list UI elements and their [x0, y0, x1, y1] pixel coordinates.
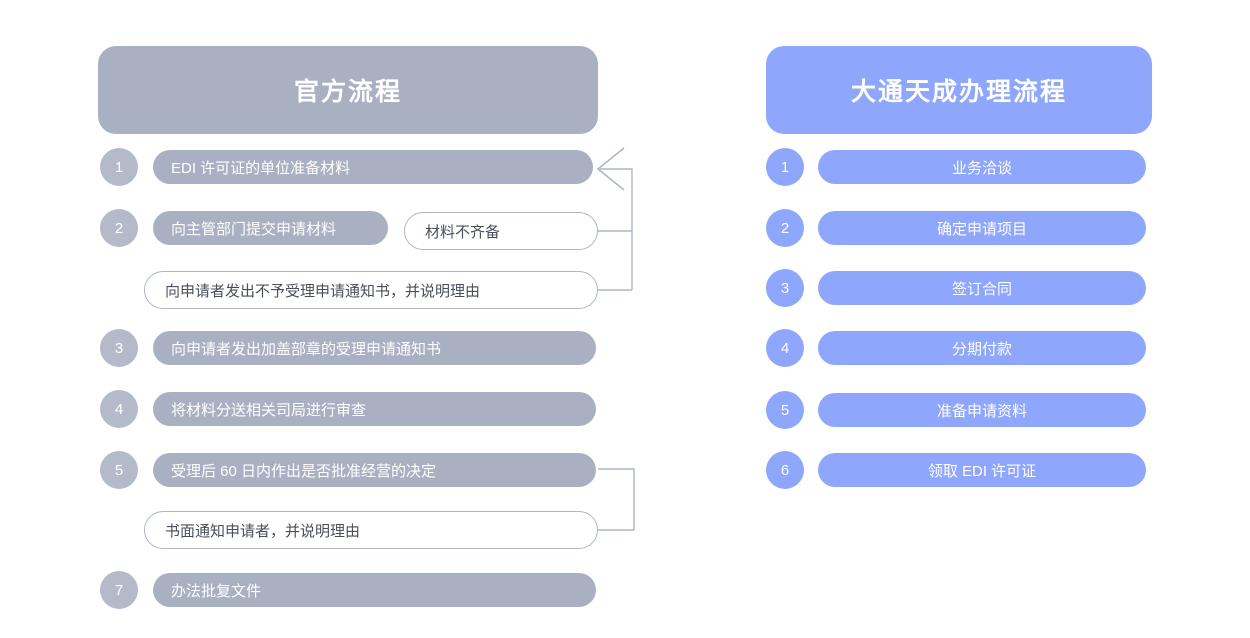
step-number-badge: 4 [100, 390, 138, 428]
step-number-badge: 3 [766, 269, 804, 307]
step-number: 1 [781, 159, 789, 176]
agency-step-3[interactable]: 3 签订合同 [766, 269, 1146, 307]
step-label: 准备申请资料 [937, 400, 1027, 421]
agency-process-title: 大通天成办理流程 [851, 72, 1067, 108]
step-number: 3 [781, 280, 789, 297]
step-number-badge: 3 [100, 329, 138, 367]
step-label-pill[interactable]: EDI 许可证的单位准备材料 [153, 150, 593, 184]
official-step-1[interactable]: 1 EDI 许可证的单位准备材料 [100, 148, 593, 186]
step-number: 2 [115, 220, 123, 237]
official-process-title: 官方流程 [294, 72, 402, 108]
step-number-badge: 2 [766, 209, 804, 247]
step-number-badge: 2 [100, 209, 138, 247]
step-label-pill[interactable]: 分期付款 [818, 331, 1146, 365]
step-number-badge: 1 [100, 148, 138, 186]
step-label-pill[interactable]: 向主管部门提交申请材料 [153, 211, 388, 245]
step-number: 4 [781, 340, 789, 357]
step-label-pill[interactable]: 准备申请资料 [818, 393, 1146, 427]
agency-step-1[interactable]: 1 业务洽谈 [766, 148, 1146, 186]
step-number: 5 [115, 462, 123, 479]
step-number: 5 [781, 402, 789, 419]
step-number-badge: 1 [766, 148, 804, 186]
official-step-4[interactable]: 4 将材料分送相关司局进行审查 [100, 390, 596, 428]
step-number: 2 [781, 220, 789, 237]
step-label: EDI 许可证的单位准备材料 [171, 157, 350, 178]
step-label-pill[interactable]: 办法批复文件 [153, 573, 596, 607]
official-step-3[interactable]: 3 向申请者发出加盖部章的受理申请通知书 [100, 329, 596, 367]
step-label-pill[interactable]: 签订合同 [818, 271, 1146, 305]
step-label-pill[interactable]: 受理后 60 日内作出是否批准经营的决定 [153, 453, 596, 487]
step-label: 向主管部门提交申请材料 [171, 218, 336, 239]
step-label: 确定申请项目 [937, 218, 1027, 239]
step-label-pill[interactable]: 业务洽谈 [818, 150, 1146, 184]
step-number-badge: 6 [766, 451, 804, 489]
step-label: 签订合同 [952, 278, 1012, 299]
step-number: 6 [781, 462, 789, 479]
step-label-pill[interactable]: 向申请者发出加盖部章的受理申请通知书 [153, 331, 596, 365]
branch-label: 材料不齐备 [425, 221, 500, 242]
step-label: 领取 EDI 许可证 [928, 460, 1036, 481]
step-label: 向申请者发出加盖部章的受理申请通知书 [171, 338, 441, 359]
agency-process-header: 大通天成办理流程 [766, 46, 1152, 134]
agency-step-4[interactable]: 4 分期付款 [766, 329, 1146, 367]
branch-label: 书面通知申请者，并说明理由 [165, 520, 360, 541]
step-label: 分期付款 [952, 338, 1012, 359]
step-label: 将材料分送相关司局进行审查 [171, 399, 366, 420]
official-branch-rejection-notice[interactable]: 向申请者发出不予受理申请通知书，并说明理由 [144, 271, 598, 309]
step-label: 业务洽谈 [952, 157, 1012, 178]
step-number: 4 [115, 401, 123, 418]
flowchart-canvas: 官方流程 1 EDI 许可证的单位准备材料 2 向主管部门提交申请材料 材料不齐… [0, 0, 1250, 638]
official-branch-material-incomplete[interactable]: 材料不齐备 [404, 212, 598, 250]
official-process-header: 官方流程 [98, 46, 598, 134]
official-step-5[interactable]: 5 受理后 60 日内作出是否批准经营的决定 [100, 451, 596, 489]
step-number: 1 [115, 159, 123, 176]
branch-label: 向申请者发出不予受理申请通知书，并说明理由 [165, 280, 480, 301]
step-number: 3 [115, 340, 123, 357]
step-label-pill[interactable]: 将材料分送相关司局进行审查 [153, 392, 596, 426]
agency-step-2[interactable]: 2 确定申请项目 [766, 209, 1146, 247]
step-number-badge: 4 [766, 329, 804, 367]
agency-step-5[interactable]: 5 准备申请资料 [766, 391, 1146, 429]
official-step-2[interactable]: 2 向主管部门提交申请材料 [100, 209, 388, 247]
step-number-badge: 5 [100, 451, 138, 489]
step-label-pill[interactable]: 领取 EDI 许可证 [818, 453, 1146, 487]
agency-step-6[interactable]: 6 领取 EDI 许可证 [766, 451, 1146, 489]
official-step-7[interactable]: 7 办法批复文件 [100, 571, 596, 609]
official-branch-written-notice[interactable]: 书面通知申请者，并说明理由 [144, 511, 598, 549]
step-label-pill[interactable]: 确定申请项目 [818, 211, 1146, 245]
step-label: 受理后 60 日内作出是否批准经营的决定 [171, 460, 436, 481]
step-label: 办法批复文件 [171, 580, 261, 601]
step-number: 7 [115, 582, 123, 599]
step-number-badge: 5 [766, 391, 804, 429]
step-number-badge: 7 [100, 571, 138, 609]
